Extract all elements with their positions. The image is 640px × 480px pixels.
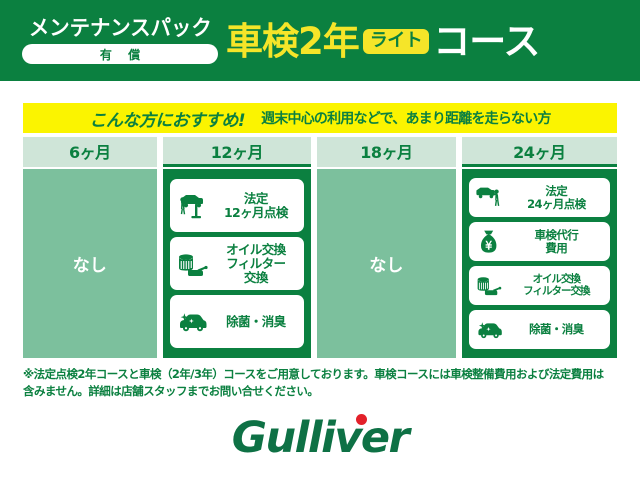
column-underline-24-months: [462, 164, 617, 167]
car-on-lift-inspection-icon: [474, 185, 504, 211]
column-header-24-months: 24ヶ月: [462, 137, 617, 164]
column-body-12-months: 法定12ヶ月点検: [163, 169, 311, 358]
column-12-months: 12ヶ月: [163, 137, 311, 358]
oil-filter-change-icon: [175, 249, 209, 279]
service-chip-inspection-agency-fee: 車検代行費用: [469, 222, 610, 261]
column-header-6-months: 6ヶ月: [23, 137, 157, 164]
paid-badge: 有 償: [22, 44, 218, 64]
car-sanitize-icon: [474, 320, 504, 340]
service-chip-label: 車検代行費用: [508, 229, 605, 255]
column-body-6-months: なし: [23, 169, 157, 358]
disclaimer-line-1: ※法定点検2年コースと車検（2年/3年）コースをご用意しております。車検コースに…: [23, 366, 619, 383]
maintenance-pack-title: メンテナンスパック: [29, 17, 212, 39]
column-underline-6-months: [23, 164, 157, 167]
service-chip-legal-12-month-inspection: 法定12ヶ月点検: [170, 179, 304, 232]
header-left-group: メンテナンスパック 有 償: [0, 17, 222, 64]
car-sanitize-icon: [175, 311, 209, 333]
service-chip-legal-24-month-inspection: 法定24ヶ月点検: [469, 178, 610, 217]
gulliver-logo-dot-icon: [356, 414, 367, 425]
no-service-label-18-months: なし: [369, 251, 403, 276]
recommendation-description: 週末中心の利用などで、あまり距離を走らない方: [261, 108, 551, 128]
column-body-18-months: なし: [317, 169, 456, 358]
paid-badge-label: 有 償: [94, 46, 146, 63]
poster-header: メンテナンスパック 有 償 車検2年 ライト コース: [0, 0, 640, 81]
service-chip-sanitize-deodorize: 除菌・消臭: [170, 295, 304, 348]
gulliver-logo: Gulliver: [232, 413, 409, 463]
column-body-24-months: 法定24ヶ月点検 車検代行費用: [462, 169, 617, 358]
service-chip-label: 除菌・消臭: [213, 315, 299, 329]
column-underline-12-months: [163, 164, 311, 167]
brand-logo-area: Gulliver: [0, 412, 640, 464]
car-on-lift-inspection-icon: [175, 191, 209, 221]
course-light-badge: ライト: [363, 29, 430, 54]
service-schedule-table: 6ヶ月 なし 12ヶ月: [23, 137, 617, 358]
no-service-label-6-months: なし: [73, 251, 107, 276]
course-suffix-title: コース: [433, 23, 539, 60]
column-18-months: 18ヶ月 なし: [317, 137, 456, 358]
service-chip-label: 法定12ヶ月点検: [213, 192, 299, 220]
column-underline-18-months: [317, 164, 456, 167]
disclaimer-note: ※法定点検2年コースと車検（2年/3年）コースをご用意しております。車検コースに…: [23, 366, 619, 399]
service-chip-sanitize-deodorize: 除菌・消臭: [469, 310, 610, 349]
maintenance-pack-poster: メンテナンスパック 有 償 車検2年 ライト コース こんな方におすすめ! 週末…: [0, 0, 640, 480]
column-header-12-months: 12ヶ月: [163, 137, 311, 164]
service-chip-label: 法定24ヶ月点検: [508, 185, 605, 211]
money-bag-yen-icon: [474, 228, 504, 256]
recommendation-headline: こんな方におすすめ!: [89, 106, 245, 131]
service-chip-label: オイル交換フィルター交換: [508, 274, 605, 298]
service-chip-label: オイル交換フィルター交換: [213, 243, 299, 285]
service-chip-oil-filter-change: オイル交換フィルター交換: [469, 266, 610, 305]
disclaimer-line-2: 含みません。詳細は店舗スタッフまでお問い合せください。: [23, 383, 619, 400]
oil-filter-change-icon: [474, 273, 504, 299]
recommendation-banner: こんな方におすすめ! 週末中心の利用などで、あまり距離を走らない方: [23, 103, 617, 133]
service-chip-oil-filter-change: オイル交換フィルター交換: [170, 237, 304, 290]
gulliver-logo-text: Gulliver: [232, 413, 409, 463]
column-header-18-months: 18ヶ月: [317, 137, 456, 164]
header-right-group: 車検2年 ライト コース: [222, 23, 640, 60]
column-6-months: 6ヶ月 なし: [23, 137, 157, 358]
service-chip-label: 除菌・消臭: [508, 323, 605, 336]
column-24-months: 24ヶ月: [462, 137, 617, 358]
course-main-title: 車検2年: [226, 23, 359, 60]
